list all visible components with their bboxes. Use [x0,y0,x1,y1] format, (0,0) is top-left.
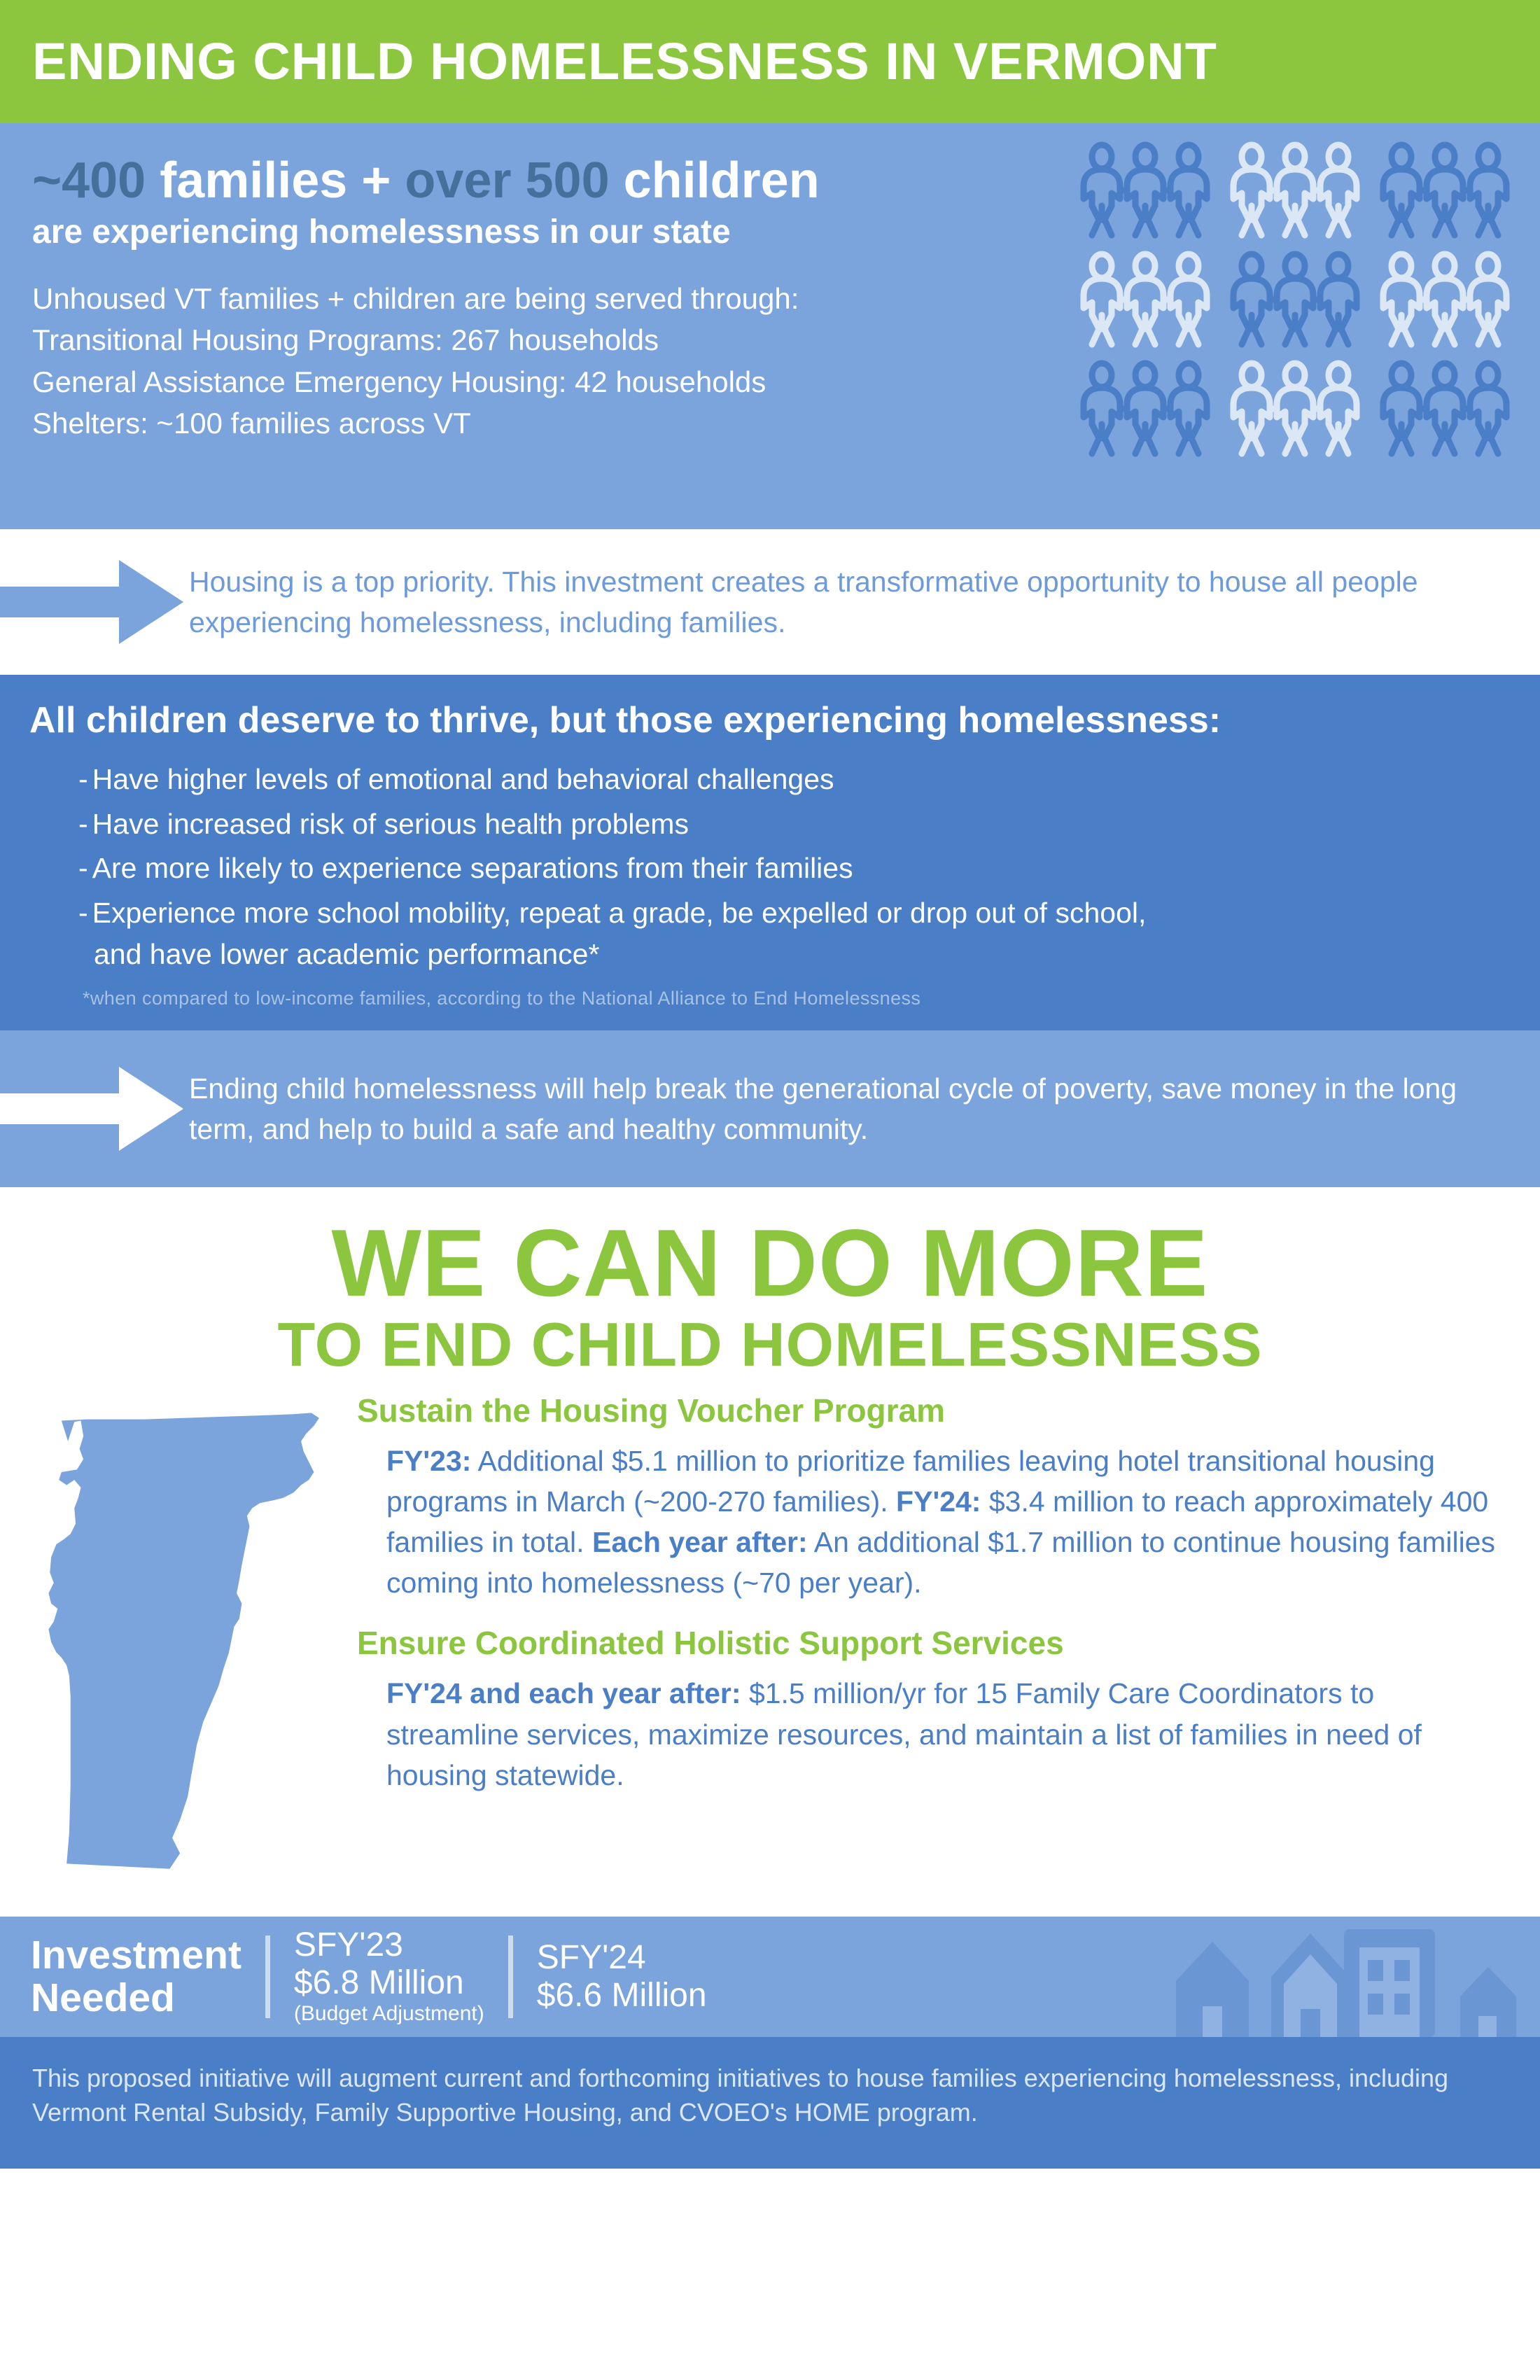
footer-note: This proposed initiative will augment cu… [0,2037,1540,2169]
infographic-page: ENDING CHILD HOMELESSNESS IN VERMONT ~40… [0,0,1540,2380]
callout-housing-priority: Housing is a top priority. This investme… [0,529,1540,675]
fiscal-year-label: FY'24 and each year after: [386,1677,741,1709]
family-of-three-icon [1075,248,1215,353]
proposal-list: Sustain the Housing Voucher Program FY'2… [357,1392,1540,1917]
families-word: families + [146,153,405,209]
children-count: over 500 [405,153,609,209]
list-item: -Have increased risk of serious health p… [78,804,1511,845]
investment-label: Investment Needed [31,1934,241,2019]
callout-text: Ending child homelessness will help brea… [189,1068,1540,1149]
family-of-three-icon [1225,357,1365,462]
families-count: ~400 [32,153,146,209]
fiscal-year-label: Each year after: [592,1526,808,1558]
section-heading: All children deserve to thrive, but thos… [29,700,1511,741]
list-item: -Have higher levels of emotional and beh… [78,759,1511,800]
list-item-continuation: and have lower academic performance* [78,934,1511,975]
investment-label-line-1: Investment [31,1934,241,1976]
vermont-state-map [0,1392,357,1917]
investment-column-sfy24: SFY'24 $6.6 Million [537,1939,707,2015]
amount: $6.6 Million [537,1977,707,2015]
footnote: *when compared to low-income families, a… [29,988,1511,1009]
dash-bullet: - [78,897,88,929]
cta-line-1: WE CAN DO MORE [0,1218,1540,1308]
proposal-support-services: Ensure Coordinated Holistic Support Serv… [357,1624,1506,1795]
cta-line-2: TO END CHILD HOMELESSNESS [0,1312,1540,1377]
amount-note: (Budget Adjustment) [294,2001,484,2026]
houses-skyline-icon [1134,1917,1540,2037]
proposal-details: FY'23: Additional $5.1 million to priori… [357,1441,1506,1604]
family-of-three-icon [1375,357,1515,462]
family-of-three-icon [1375,248,1515,353]
family-of-three-icon [1225,139,1365,244]
investment-section: Investment Needed SFY'23 $6.8 Million (B… [0,1917,1540,2037]
list-item-label: Are more likely to experience separation… [92,852,853,884]
people-icon-grid [1075,139,1515,462]
fiscal-year: SFY'23 [294,1926,484,1964]
statistics-section: ~400 families + over 500 children are ex… [0,123,1540,529]
proposal-title: Ensure Coordinated Holistic Support Serv… [357,1624,1506,1662]
dash-bullet: - [78,852,88,884]
call-to-action-section: WE CAN DO MORE TO END CHILD HOMELESSNESS [0,1187,1540,1378]
impact-list: -Have higher levels of emotional and beh… [29,759,1511,975]
fiscal-year-label: FY'24: [896,1485,981,1518]
right-arrow-icon [0,1053,189,1165]
investment-label-line-2: Needed [31,1977,241,2019]
investment-column-sfy23: SFY'23 $6.8 Million (Budget Adjustment) [294,1926,484,2027]
proposal-details: FY'24 and each year after: $1.5 million/… [357,1673,1506,1795]
callout-text: Housing is a top priority. This investme… [189,561,1540,643]
callout-breaking-cycle: Ending child homelessness will help brea… [0,1030,1540,1187]
family-of-three-icon [1225,248,1365,353]
fiscal-year: SFY'24 [537,1939,707,1977]
amount: $6.8 Million [294,1964,484,2002]
divider [265,1935,270,2018]
page-header: ENDING CHILD HOMELESSNESS IN VERMONT [0,0,1540,123]
footer-text: This proposed initiative will augment cu… [32,2061,1508,2130]
divider [508,1935,513,2018]
list-item-label: Have increased risk of serious health pr… [92,808,689,840]
list-item-label: Experience more school mobility, repeat … [92,897,1147,929]
dash-bullet: - [78,763,88,795]
list-item-label: Have higher levels of emotional and beha… [92,763,834,795]
family-of-three-icon [1075,357,1215,462]
children-word: children [610,153,820,209]
proposal-voucher-program: Sustain the Housing Voucher Program FY'2… [357,1392,1506,1604]
list-item: -Are more likely to experience separatio… [78,848,1511,889]
family-of-three-icon [1375,139,1515,244]
family-of-three-icon [1075,139,1215,244]
page-title: ENDING CHILD HOMELESSNESS IN VERMONT [32,36,1217,87]
list-item: -Experience more school mobility, repeat… [78,892,1511,976]
proposal-title: Sustain the Housing Voucher Program [357,1392,1506,1429]
children-impacts-section: All children deserve to thrive, but thos… [0,675,1540,1030]
proposals-section: Sustain the Housing Voucher Program FY'2… [0,1378,1540,1917]
dash-bullet: - [78,808,88,840]
right-arrow-icon [0,546,189,658]
fiscal-year-label: FY'23: [386,1445,471,1477]
